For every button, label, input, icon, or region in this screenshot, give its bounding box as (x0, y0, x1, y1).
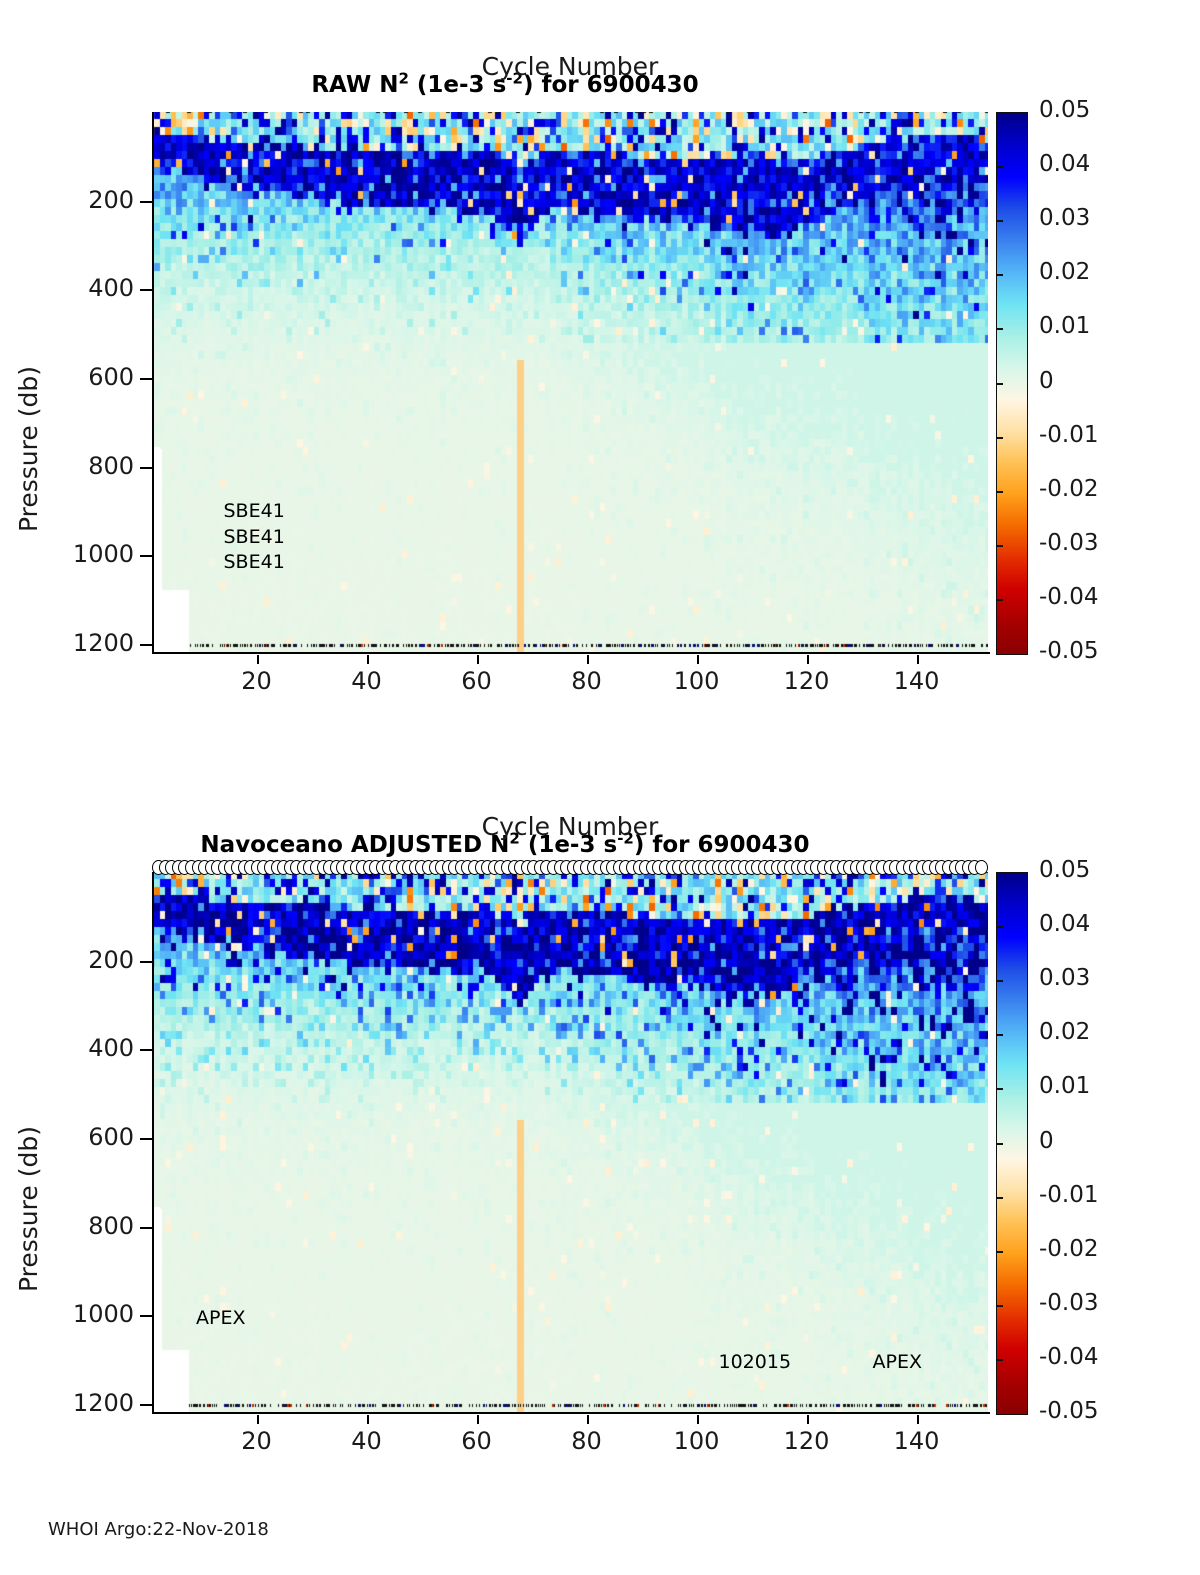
x-tick-mark (257, 655, 259, 664)
x-tick-mark (807, 1415, 809, 1424)
x-tick-label: 100 (657, 667, 737, 695)
colorbar-tick-label: -0.05 (1039, 638, 1099, 664)
x-tick-label: 40 (327, 1427, 407, 1455)
colorbar-tick-label: -0.01 (1039, 422, 1099, 448)
colorbar-tick-label: 0 (1039, 1128, 1054, 1154)
colorbar-tick-label: 0.02 (1039, 1019, 1090, 1045)
colorbar-tick-label: 0.01 (1039, 1073, 1090, 1099)
y-tick-mark (140, 1227, 152, 1229)
x-tick-mark (477, 655, 479, 664)
x-tick-mark (587, 1415, 589, 1424)
x-tick-label: 40 (327, 667, 407, 695)
plot-annotation: SBE41 (224, 526, 285, 548)
colorbar-tick-mark (996, 220, 1003, 222)
colorbar-tick-mark (996, 491, 1003, 493)
colorbar-tick-label: 0.01 (1039, 313, 1090, 339)
x-tick-mark (697, 1415, 699, 1424)
x-tick-label: 140 (877, 1427, 957, 1455)
x-tick-mark (477, 1415, 479, 1424)
colorbar-tick-mark (996, 1143, 1003, 1145)
y-tick-mark (140, 1049, 152, 1051)
x-tick-mark (917, 1415, 919, 1424)
colorbar-tick-label: -0.02 (1039, 1236, 1099, 1262)
colorbar-tick-mark (996, 1359, 1003, 1361)
y-tick-mark (140, 1138, 152, 1140)
colorbar-tick-mark (996, 545, 1003, 547)
colorbar-tick-label: -0.01 (1039, 1182, 1099, 1208)
y-tick-mark (140, 378, 152, 380)
plot-annotation: APEX (196, 1307, 245, 1329)
y-tick-mark (140, 201, 152, 203)
colorbar-tick-label: -0.02 (1039, 476, 1099, 502)
colorbar-tick-label: 0.05 (1039, 857, 1090, 883)
colorbar-tick-label: 0.05 (1039, 97, 1090, 123)
raw-x-axis-title: Cycle Number (152, 52, 988, 81)
y-tick-label: 400 (22, 1034, 134, 1062)
adjusted-y-axis-line (152, 872, 154, 1414)
colorbar-tick-mark (996, 1034, 1003, 1036)
colorbar-tick-mark (996, 383, 1003, 385)
x-tick-mark (367, 655, 369, 664)
colorbar-tick-mark (996, 926, 1003, 928)
colorbar-tick-label: -0.04 (1039, 1344, 1099, 1370)
colorbar-tick-mark (996, 1305, 1003, 1307)
x-tick-label: 100 (657, 1427, 737, 1455)
x-tick-label: 80 (547, 667, 627, 695)
x-tick-label: 60 (437, 667, 517, 695)
y-tick-label: 1200 (22, 1389, 134, 1417)
raw-x-axis-line (152, 652, 990, 654)
y-tick-mark (140, 961, 152, 963)
plot-annotation: SBE41 (224, 551, 285, 573)
colorbar-tick-mark (996, 599, 1003, 601)
colorbar-tick-mark (996, 166, 1003, 168)
colorbar-tick-label: -0.05 (1039, 1398, 1099, 1424)
panel-raw: RAW N2 (1e-3 s-2) for 6900430 2004006008… (0, 0, 1200, 760)
plot-annotation: APEX (873, 1351, 922, 1373)
colorbar-tick-label: -0.04 (1039, 584, 1099, 610)
x-tick-label: 120 (767, 1427, 847, 1455)
x-tick-mark (697, 655, 699, 664)
x-tick-label: 80 (547, 1427, 627, 1455)
y-axis-title: Pressure (db) (14, 1126, 43, 1292)
adjusted-x-axis-title: Cycle Number (152, 812, 988, 841)
y-tick-mark (140, 289, 152, 291)
raw-y-axis-line (152, 112, 154, 654)
adjusted-heatmap-canvas (152, 872, 988, 1413)
y-tick-label: 200 (22, 946, 134, 974)
x-tick-mark (917, 655, 919, 664)
y-tick-label: 400 (22, 274, 134, 302)
colorbar-tick-mark (996, 980, 1003, 982)
colorbar-tick-label: 0.04 (1039, 151, 1090, 177)
adjusted-cycle-marker-row (152, 860, 988, 877)
cycle-marker-icon (975, 860, 988, 875)
x-tick-mark (257, 1415, 259, 1424)
x-tick-label: 120 (767, 667, 847, 695)
x-tick-mark (807, 655, 809, 664)
y-tick-mark (140, 555, 152, 557)
colorbar-tick-mark (996, 274, 1003, 276)
colorbar-tick-label: 0.02 (1039, 259, 1090, 285)
colorbar-tick-label: 0 (1039, 368, 1054, 394)
colorbar-tick-label: -0.03 (1039, 1290, 1099, 1316)
colorbar-tick-mark (996, 1197, 1003, 1199)
x-tick-label: 20 (217, 667, 297, 695)
plot-annotation: 102015 (719, 1351, 792, 1373)
x-tick-label: 60 (437, 1427, 517, 1455)
y-tick-mark (140, 467, 152, 469)
x-tick-mark (587, 655, 589, 664)
y-tick-label: 1200 (22, 629, 134, 657)
y-tick-label: 200 (22, 186, 134, 214)
adjusted-heatmap-plot (152, 872, 988, 1413)
x-tick-label: 20 (217, 1427, 297, 1455)
adjusted-x-axis-line (152, 1412, 990, 1414)
y-tick-mark (140, 644, 152, 646)
y-axis-title: Pressure (db) (14, 366, 43, 532)
figure-footer: WHOI Argo:22-Nov-2018 (48, 1519, 269, 1540)
colorbar-tick-label: -0.03 (1039, 530, 1099, 556)
colorbar-tick-label: 0.03 (1039, 965, 1090, 991)
plot-annotation: SBE41 (224, 500, 285, 522)
colorbar-tick-label: 0.03 (1039, 205, 1090, 231)
colorbar-tick-mark (996, 1088, 1003, 1090)
colorbar-tick-mark (996, 437, 1003, 439)
panel-adjusted: Navoceano ADJUSTED N2 (1e-3 s-2) for 690… (0, 760, 1200, 1520)
x-tick-label: 140 (877, 667, 957, 695)
colorbar-tick-mark (996, 328, 1003, 330)
y-tick-mark (140, 1404, 152, 1406)
x-tick-mark (367, 1415, 369, 1424)
y-tick-label: 1000 (22, 540, 134, 568)
colorbar-tick-label: 0.04 (1039, 911, 1090, 937)
y-tick-mark (140, 1315, 152, 1317)
colorbar-tick-mark (996, 1251, 1003, 1253)
y-tick-label: 1000 (22, 1300, 134, 1328)
